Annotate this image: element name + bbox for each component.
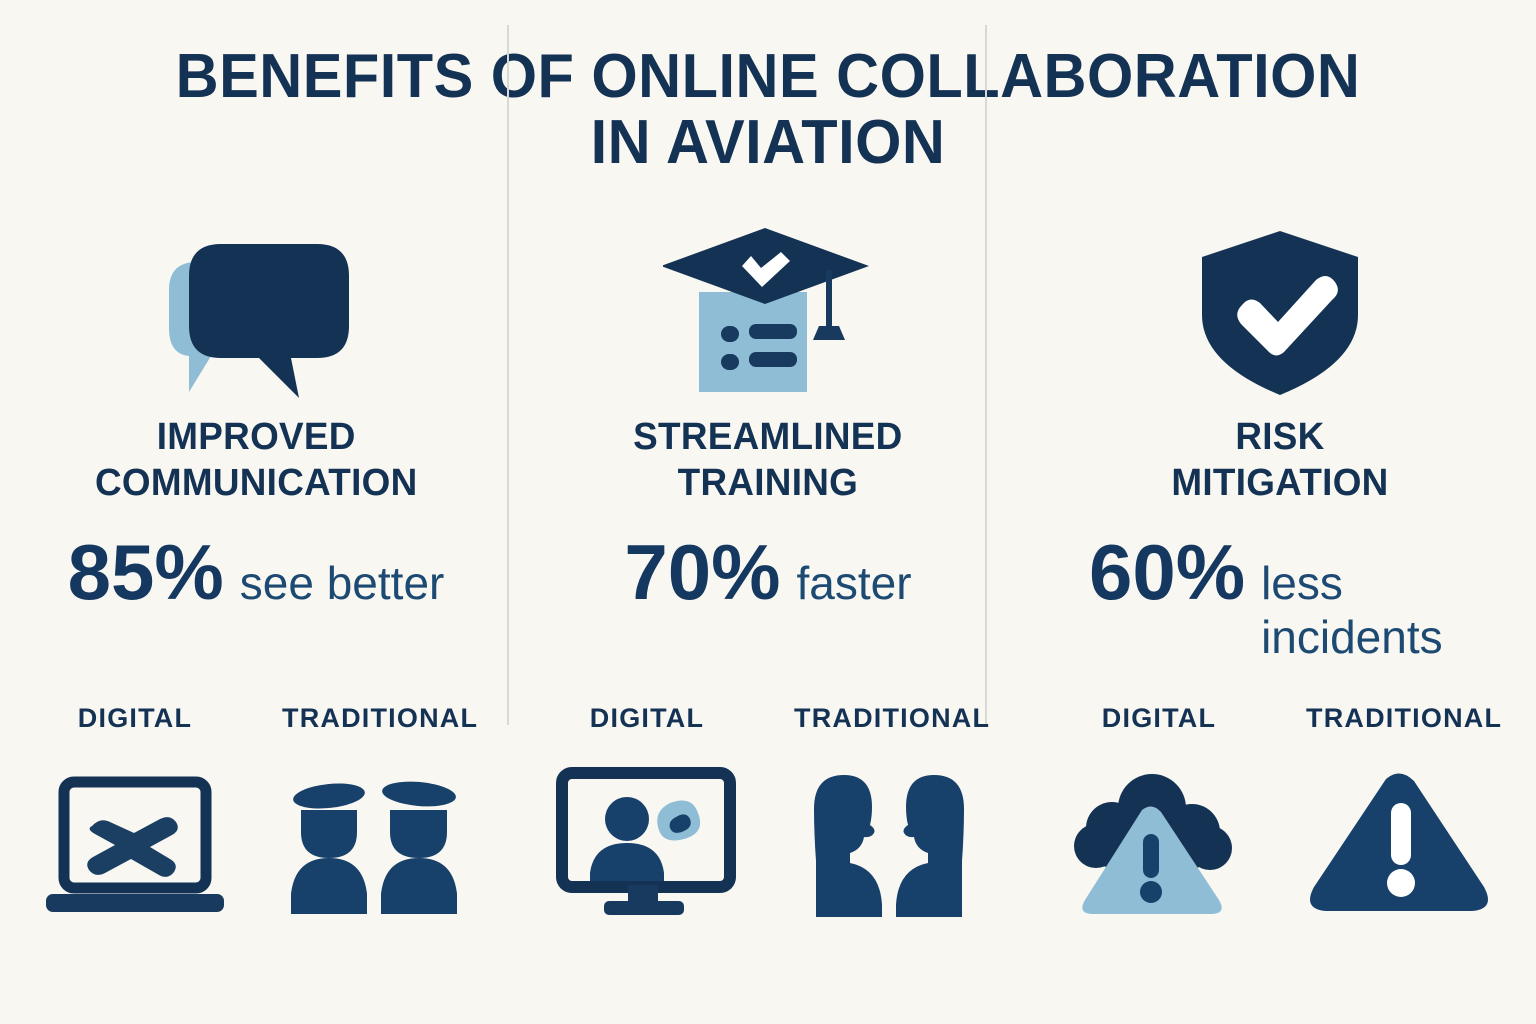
column-heading-line-2: Communication <box>95 460 418 506</box>
cloud-alert-icon <box>1064 760 1254 920</box>
benefit-column-risk-mitigation: Risk Mitigation 60% less incidents Digit… <box>1024 225 1536 985</box>
compare-icons <box>512 760 1024 920</box>
benefit-column-streamlined-training: Streamlined Training 70% faster Digital … <box>512 225 1024 985</box>
stat-value: 70% <box>624 532 780 612</box>
shield-check-icon <box>1190 225 1370 400</box>
compare-label-digital: Digital <box>552 703 742 734</box>
title-line-2: in Aviation <box>31 110 1506 176</box>
compare-labels: Digital Traditional <box>0 703 512 734</box>
compare-labels: Digital Traditional <box>1024 703 1536 734</box>
compare-label-traditional: Traditional <box>794 703 984 734</box>
stat-label: faster <box>797 556 912 610</box>
compare-icons <box>0 760 512 920</box>
column-heading-line-1: Improved <box>95 414 418 460</box>
compare-label-traditional: Traditional <box>1306 703 1496 734</box>
compare-label-digital: Digital <box>40 703 230 734</box>
benefit-columns: Improved Communication 85% see better Di… <box>0 225 1536 985</box>
stat-value: 60% <box>1089 532 1245 612</box>
compare-label-digital: Digital <box>1064 703 1254 734</box>
stat-row: 85% see better <box>36 532 476 612</box>
compare-label-traditional: Traditional <box>282 703 472 734</box>
stat-row: 60% less incidents <box>1060 532 1500 664</box>
column-heading: Risk Mitigation <box>1171 414 1388 506</box>
warning-triangle-icon <box>1306 760 1496 920</box>
title-line-1: Benefits of Online Collaboration <box>31 44 1506 110</box>
two-pilots-icon <box>282 760 472 920</box>
column-heading: Streamlined Training <box>633 414 902 506</box>
stat-label: less incidents <box>1261 556 1471 664</box>
column-heading: Improved Communication <box>95 414 418 506</box>
laptop-airplane-icon <box>40 760 230 920</box>
speech-bubbles-icon <box>151 225 361 400</box>
monitor-elearning-icon <box>552 760 742 920</box>
stat-row: 70% faster <box>548 532 988 612</box>
column-heading-line-2: Mitigation <box>1171 460 1388 506</box>
benefit-column-improved-communication: Improved Communication 85% see better Di… <box>0 225 512 985</box>
column-heading-line-1: Streamlined <box>633 414 902 460</box>
two-people-profiles-icon <box>794 760 984 920</box>
stat-label: see better <box>240 556 445 610</box>
stat-value: 85% <box>68 532 224 612</box>
infographic-canvas: Benefits of Online Collaboration in Avia… <box>0 0 1536 1024</box>
page-title: Benefits of Online Collaboration in Avia… <box>0 44 1536 176</box>
compare-icons <box>1024 760 1536 920</box>
column-heading-line-2: Training <box>633 460 902 506</box>
compare-labels: Digital Traditional <box>512 703 1024 734</box>
column-heading-line-1: Risk <box>1171 414 1388 460</box>
graduation-cap-icon <box>663 225 873 400</box>
